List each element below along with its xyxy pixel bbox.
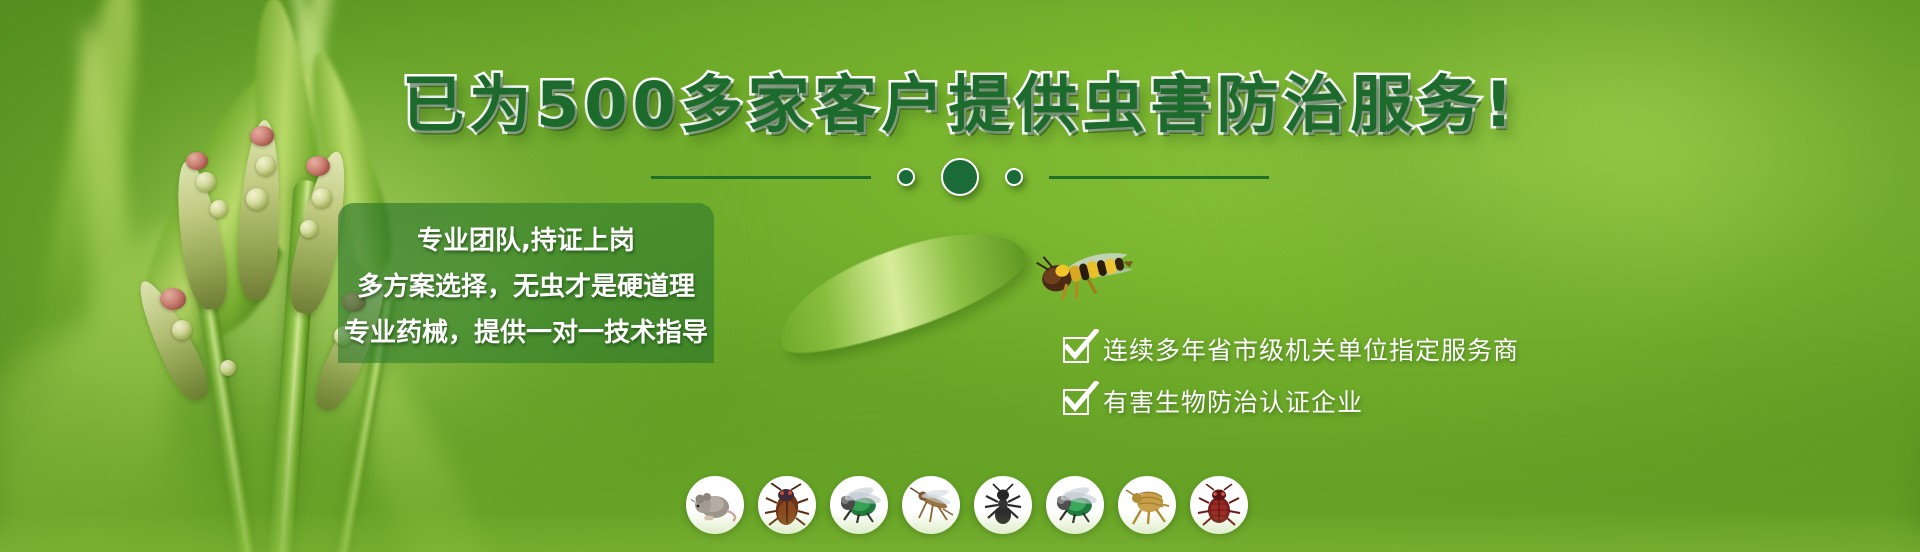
pest-control-hero-banner: 已为500多家客户提供虫害防治服务! — [0, 0, 1920, 552]
divider-dot-small-left — [897, 168, 915, 186]
highlight-line-2: 多方案选择，无虫才是硬道理 — [357, 266, 695, 303]
divider-dot-small-right — [1005, 168, 1023, 186]
divider-dot-large — [941, 158, 979, 196]
highlight-line-3: 专业药械，提供一对一技术指导 — [344, 312, 708, 349]
list-item: 连续多年省市级机关单位指定服务商 — [1063, 337, 1519, 363]
divider-line-left — [651, 176, 871, 179]
rodent-icon[interactable] — [686, 476, 744, 534]
fly-icon[interactable] — [830, 476, 888, 534]
bedbug-icon[interactable] — [1190, 476, 1248, 534]
divider-line-right — [1049, 176, 1269, 179]
pest-types-row — [686, 476, 1248, 534]
checkbox-checked-icon — [1063, 337, 1089, 363]
decorative-divider — [0, 158, 1920, 196]
credentials-checklist: 连续多年省市级机关单位指定服务商 有害生物防治认证企业 — [1063, 337, 1519, 415]
blowfly-icon[interactable] — [1046, 476, 1104, 534]
credential-label: 连续多年省市级机关单位指定服务商 — [1103, 338, 1519, 363]
checkbox-checked-icon — [1063, 389, 1089, 415]
credential-label: 有害生物防治认证企业 — [1103, 390, 1363, 415]
cockroach-icon[interactable] — [758, 476, 816, 534]
mosquito-icon[interactable] — [902, 476, 960, 534]
ant-icon[interactable] — [974, 476, 1032, 534]
highlight-line-1: 专业团队,持证上岗 — [417, 220, 635, 257]
service-highlights-panel: 专业团队,持证上岗 多方案选择，无虫才是硬道理 专业药械，提供一对一技术指导 — [338, 203, 714, 363]
page-title: 已为500多家客户提供虫害防治服务! — [0, 74, 1920, 136]
list-item: 有害生物防治认证企业 — [1063, 389, 1519, 415]
flea-icon[interactable] — [1118, 476, 1176, 534]
